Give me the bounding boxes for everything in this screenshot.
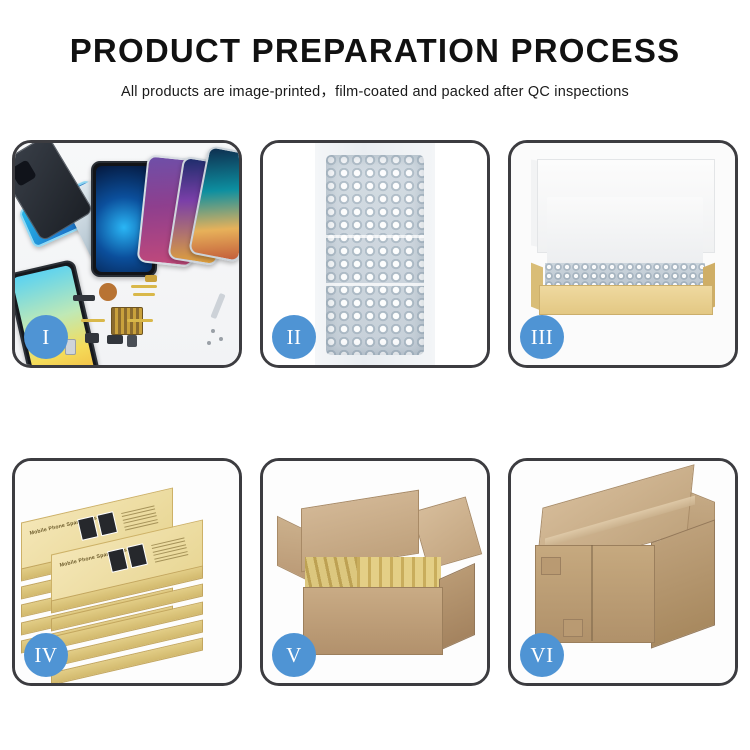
process-step-grid: I II III: [12, 140, 738, 686]
step-badge-4: IV: [24, 633, 68, 677]
wrap-seam-2: [326, 283, 424, 286]
carton-front-seam: [591, 545, 593, 641]
step-badge-1: I: [24, 315, 68, 359]
infographic-page: PRODUCT PREPARATION PROCESS All products…: [0, 0, 750, 750]
part-screw-1: [211, 329, 215, 333]
carton-flap-tab-top: [541, 557, 561, 575]
step-panel-5[interactable]: V: [260, 458, 490, 686]
step-panel-3[interactable]: III: [508, 140, 738, 368]
wrap-seam-1: [326, 235, 424, 238]
box-print-phone-c: [107, 548, 129, 573]
box-front-wall: [539, 285, 713, 315]
page-subtitle: All products are image-printed，film-coat…: [0, 80, 750, 101]
step-badge-3: III: [520, 315, 564, 359]
step-panel-4[interactable]: Mobile Phone Spare Parts Mobi: [12, 458, 242, 686]
part-tweezers: [210, 293, 225, 319]
carton-side-right: [439, 563, 475, 651]
part-connector: [107, 335, 123, 344]
step-panel-1[interactable]: I: [12, 140, 242, 368]
part-screw-2: [219, 337, 223, 341]
carton-right-side: [651, 519, 715, 648]
part-camera-module: [85, 333, 99, 343]
step-panel-6[interactable]: VI: [508, 458, 738, 686]
step-badge-6: VI: [520, 633, 564, 677]
part-flex-cable-4: [127, 319, 153, 322]
part-flex-cable-2: [133, 293, 155, 296]
part-copper-coil: [99, 283, 117, 301]
step-badge-5: V: [272, 633, 316, 677]
page-title: PRODUCT PREPARATION PROCESS: [0, 34, 750, 69]
part-gold-contact: [145, 275, 157, 282]
step-badge-2: II: [272, 315, 316, 359]
step-panel-2[interactable]: II: [260, 140, 490, 368]
part-vibrator: [127, 335, 137, 347]
part-speaker: [73, 295, 95, 301]
header: PRODUCT PREPARATION PROCESS All products…: [0, 0, 750, 101]
box-print-phone-a: [77, 516, 99, 541]
part-screw-3: [207, 341, 211, 345]
part-flex-cable-1: [131, 285, 157, 288]
carton-front-wall: [303, 587, 443, 655]
carton-flap-tab-bottom: [563, 619, 583, 637]
part-flex-cable-3: [81, 319, 105, 322]
bubble-wrap-pack: [326, 155, 424, 355]
foam-sheet: [547, 197, 703, 265]
